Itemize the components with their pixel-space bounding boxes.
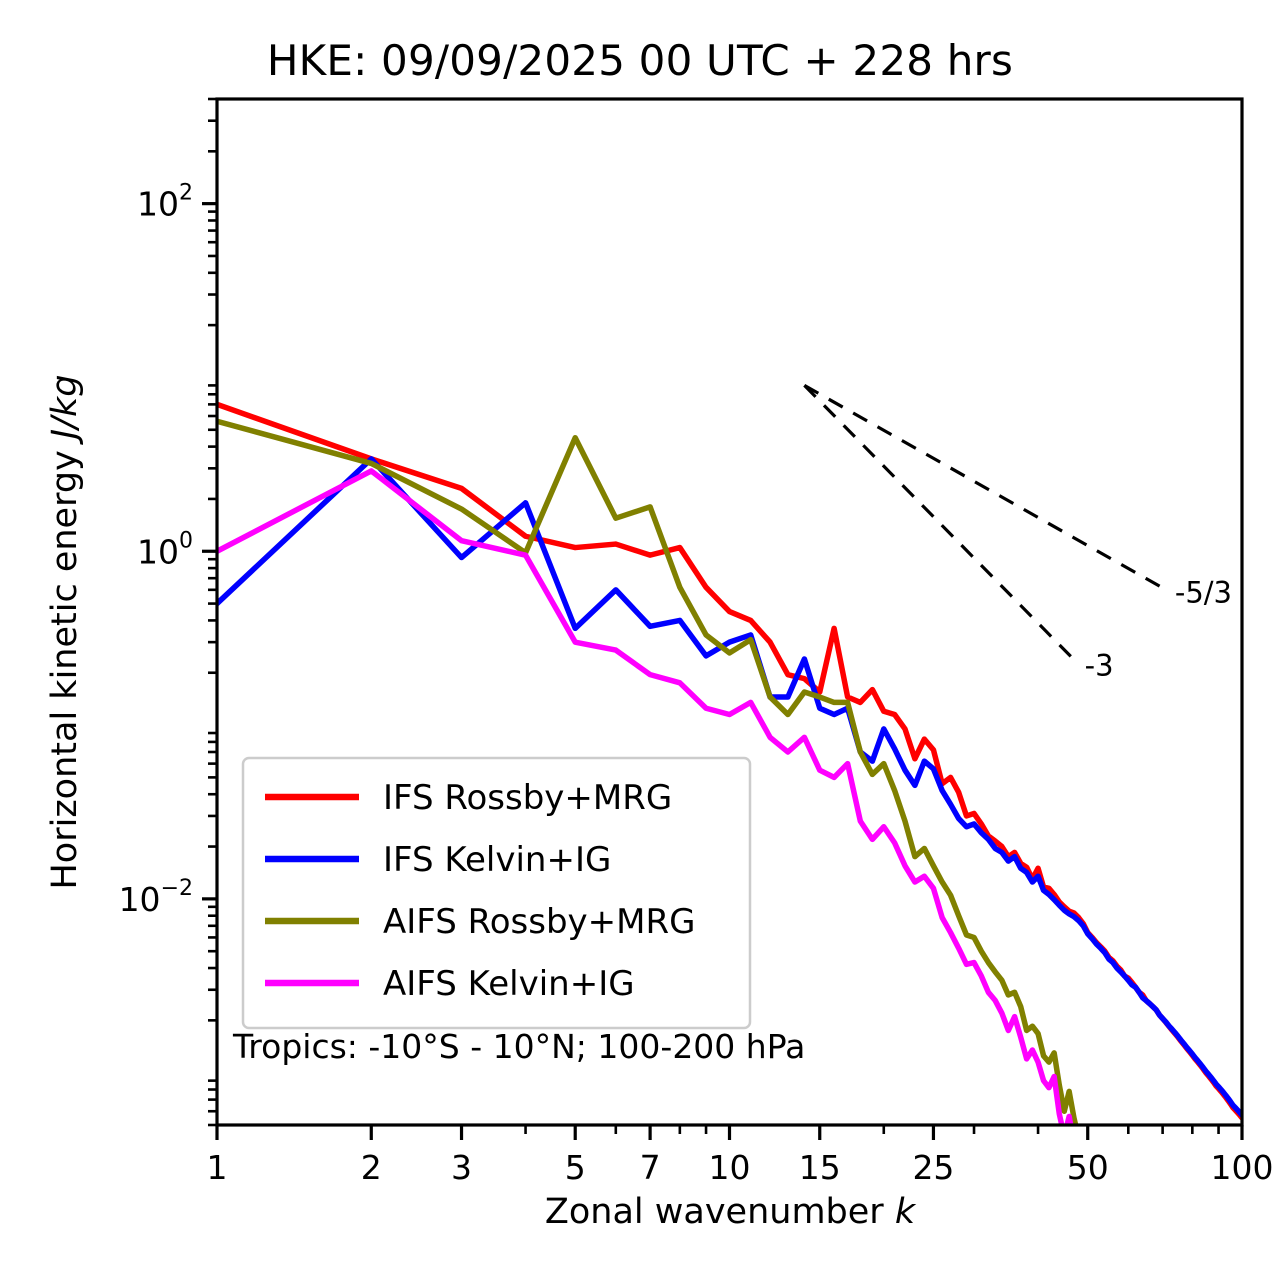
annotation-layer: Tropics: -10°S - 10°N; 100-200 hPa	[232, 1027, 805, 1066]
legend-label-2[interactable]: AIFS Rossby+MRG	[383, 902, 695, 942]
x-tick-label-50: 50	[1067, 1148, 1109, 1187]
y-tick-label-0: 102	[137, 181, 193, 224]
x-tick-label-100: 100	[1211, 1148, 1274, 1187]
legend-label-3[interactable]: AIFS Kelvin+IG	[383, 964, 635, 1004]
reference-slope-line-1	[804, 385, 1078, 664]
x-tick-label-7: 7	[640, 1148, 661, 1187]
legend-label-1[interactable]: IFS Kelvin+IG	[383, 840, 611, 880]
y-tick-label-1: 100	[137, 528, 193, 571]
legend-label-0[interactable]: IFS Rossby+MRG	[383, 778, 672, 818]
chart-plot-area: -5/3-3 123571015255010010210010−2 Tropic…	[0, 0, 1280, 1288]
region-annotation: Tropics: -10°S - 10°N; 100-200 hPa	[232, 1027, 805, 1066]
reference-slope-layer: -5/3-3	[804, 385, 1232, 682]
x-tick-label-5: 5	[565, 1148, 586, 1187]
y-tick-label-2: 10−2	[119, 876, 193, 919]
x-tick-label-1: 1	[207, 1148, 228, 1187]
chart-legend[interactable]: IFS Rossby+MRGIFS Kelvin+IGAIFS Rossby+M…	[243, 758, 750, 1028]
reference-slope-label-1: -3	[1085, 648, 1114, 682]
x-tick-label-15: 15	[799, 1148, 841, 1187]
x-tick-label-10: 10	[709, 1148, 751, 1187]
reference-slope-label-0: -5/3	[1175, 575, 1232, 609]
figure-canvas: HKE: 09/09/2025 00 UTC + 228 hrs Horizon…	[0, 0, 1280, 1288]
x-tick-label-2: 2	[361, 1148, 382, 1187]
x-tick-label-25: 25	[912, 1148, 954, 1187]
x-tick-label-3: 3	[451, 1148, 472, 1187]
reference-slope-line-0	[804, 385, 1168, 591]
